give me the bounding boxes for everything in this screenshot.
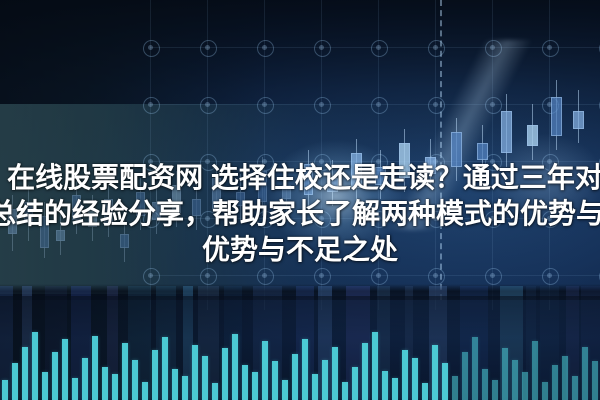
candlestick-body	[501, 111, 512, 153]
candlestick	[551, 80, 562, 150]
banner-image: 在线股票配资网 选择住校还是走读？通过三年对 总结的经验分享，帮助家长了解两种模…	[0, 0, 600, 400]
candlestick-body	[136, 192, 145, 217]
volume-bar	[542, 382, 547, 400]
volume-bar	[562, 356, 567, 400]
volume-bar	[52, 352, 57, 400]
candlestick	[477, 125, 488, 174]
candlestick	[152, 188, 161, 234]
candlestick-body	[40, 216, 49, 248]
candlestick	[72, 181, 81, 234]
candlestick	[212, 164, 221, 224]
volume-bar	[232, 334, 237, 400]
candlestick	[573, 90, 584, 143]
volume-bar	[432, 345, 437, 400]
volume-bar	[222, 348, 227, 400]
volume-bar	[192, 345, 197, 400]
volume-bar	[282, 380, 287, 400]
candlestick	[120, 216, 129, 262]
candlestick	[172, 171, 181, 227]
volume-bar	[582, 347, 587, 400]
volume-bar	[152, 350, 157, 400]
volume-bar	[72, 378, 77, 400]
volume-bars	[0, 290, 600, 400]
candlestick-body	[88, 209, 97, 227]
volume-bar	[122, 343, 127, 400]
volume-bar	[492, 380, 497, 400]
volume-bar	[292, 354, 297, 400]
volume-bar	[182, 376, 187, 400]
candlestick	[501, 94, 512, 168]
candlestick-body	[192, 199, 201, 217]
volume-bar	[482, 369, 487, 400]
volume-bar	[92, 336, 97, 400]
candlestick-body	[212, 178, 221, 210]
candlestick	[451, 118, 462, 181]
volume-bar	[342, 382, 347, 400]
volume-bar	[112, 374, 117, 400]
volume-bar	[2, 380, 7, 400]
volume-bar	[332, 347, 337, 400]
candlestick-body	[24, 202, 33, 223]
volume-bar	[32, 332, 37, 400]
volume-bar	[172, 369, 177, 400]
volume-bar	[82, 358, 87, 400]
candlestick	[192, 181, 201, 230]
volume-bar	[272, 361, 277, 400]
volume-bar	[392, 378, 397, 400]
volume-bar	[242, 365, 247, 400]
volume-bar	[62, 339, 67, 400]
candlestick-body	[104, 199, 113, 224]
volume-bar	[572, 376, 577, 400]
volume-bar	[132, 360, 137, 400]
candlestick	[88, 195, 97, 241]
volume-bar	[102, 367, 107, 400]
volume-bar	[252, 372, 257, 400]
volume-bar	[522, 372, 527, 400]
volume-bar	[322, 360, 327, 400]
candlestick-body	[573, 111, 584, 129]
light-burst-glow	[241, 121, 431, 271]
volume-bar	[302, 339, 307, 400]
volume-bar	[462, 352, 467, 400]
candlestick-body	[551, 97, 562, 136]
volume-bar	[42, 372, 47, 400]
volume-bar	[382, 371, 387, 400]
candlestick-body	[527, 125, 538, 146]
candlestick	[104, 185, 113, 238]
candlestick	[527, 104, 538, 160]
volume-bar	[142, 382, 147, 400]
volume-bar	[262, 341, 267, 400]
volume-bar	[552, 365, 557, 400]
volume-bar	[532, 341, 537, 400]
volume-bar	[502, 348, 507, 400]
volume-bar	[412, 358, 417, 400]
volume-bar	[12, 363, 17, 400]
volume-bar	[202, 356, 207, 400]
candlestick	[40, 202, 49, 258]
candlestick-body	[477, 143, 488, 161]
candlestick-body	[152, 202, 161, 220]
volume-bar	[442, 363, 447, 400]
candlestick-body	[451, 132, 462, 167]
volume-bar	[452, 376, 457, 400]
volume-bar	[312, 374, 317, 400]
candlestick	[56, 213, 65, 255]
candlestick-body	[8, 209, 17, 234]
candlestick	[136, 178, 145, 231]
volume-bar	[162, 337, 167, 400]
candlestick-body	[56, 230, 65, 241]
candlestick-body	[120, 234, 129, 248]
volume-bar	[22, 347, 27, 400]
candlestick-body	[72, 195, 81, 220]
volume-bar	[372, 332, 377, 400]
volume-bar	[472, 337, 477, 400]
volume-bar	[362, 343, 367, 400]
volume-bar	[352, 367, 357, 400]
volume-bar	[402, 350, 407, 400]
volume-bar	[422, 383, 427, 400]
candlestick	[24, 185, 33, 241]
volume-bar	[212, 383, 217, 400]
candlestick-body	[172, 185, 181, 213]
candlestick	[8, 195, 17, 251]
volume-bar	[592, 361, 597, 400]
volume-bar	[512, 360, 517, 400]
